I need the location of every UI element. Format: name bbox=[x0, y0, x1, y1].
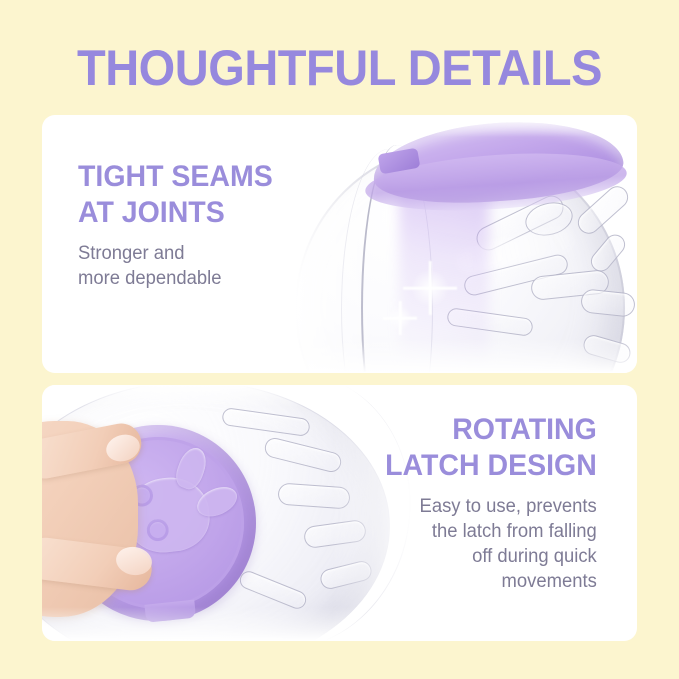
panel-headline-line-1: ROTATING bbox=[385, 412, 597, 448]
panel-headline-line-2: LATCH DESIGN bbox=[385, 448, 597, 484]
page-title: THOUGHTFUL DETAILS bbox=[20, 40, 658, 96]
panel-body-line-1: Stronger and bbox=[78, 241, 277, 266]
panel-text-tight-seams: TIGHT SEAMS AT JOINTS Stronger and more … bbox=[78, 159, 283, 291]
panel-card-tight-seams: TIGHT SEAMS AT JOINTS Stronger and more … bbox=[42, 115, 637, 373]
panel-text-rotating-latch: ROTATING LATCH DESIGN Easy to use, preve… bbox=[374, 412, 597, 594]
panel-body-line-2: the latch from falling bbox=[381, 519, 597, 544]
panel-body-line-4: movements bbox=[381, 569, 597, 594]
panel-body-line-2: more dependable bbox=[78, 266, 277, 291]
sparkle-icon bbox=[383, 301, 417, 335]
product-photo-hand-holding-latch bbox=[42, 385, 412, 641]
infographic-root: THOUGHTFUL DETAILS bbox=[0, 0, 679, 679]
panel-body-line-1: Easy to use, prevents bbox=[381, 494, 597, 519]
panel-body-line-3: off during quick bbox=[381, 544, 597, 569]
panel-headline-line-2: AT JOINTS bbox=[78, 195, 273, 231]
animal-ear-emboss bbox=[172, 444, 211, 492]
product-photo-clear-ball bbox=[287, 115, 637, 373]
panel-headline-line-1: TIGHT SEAMS bbox=[78, 159, 273, 195]
panel-card-rotating-latch: ROTATING LATCH DESIGN Easy to use, preve… bbox=[42, 385, 637, 641]
